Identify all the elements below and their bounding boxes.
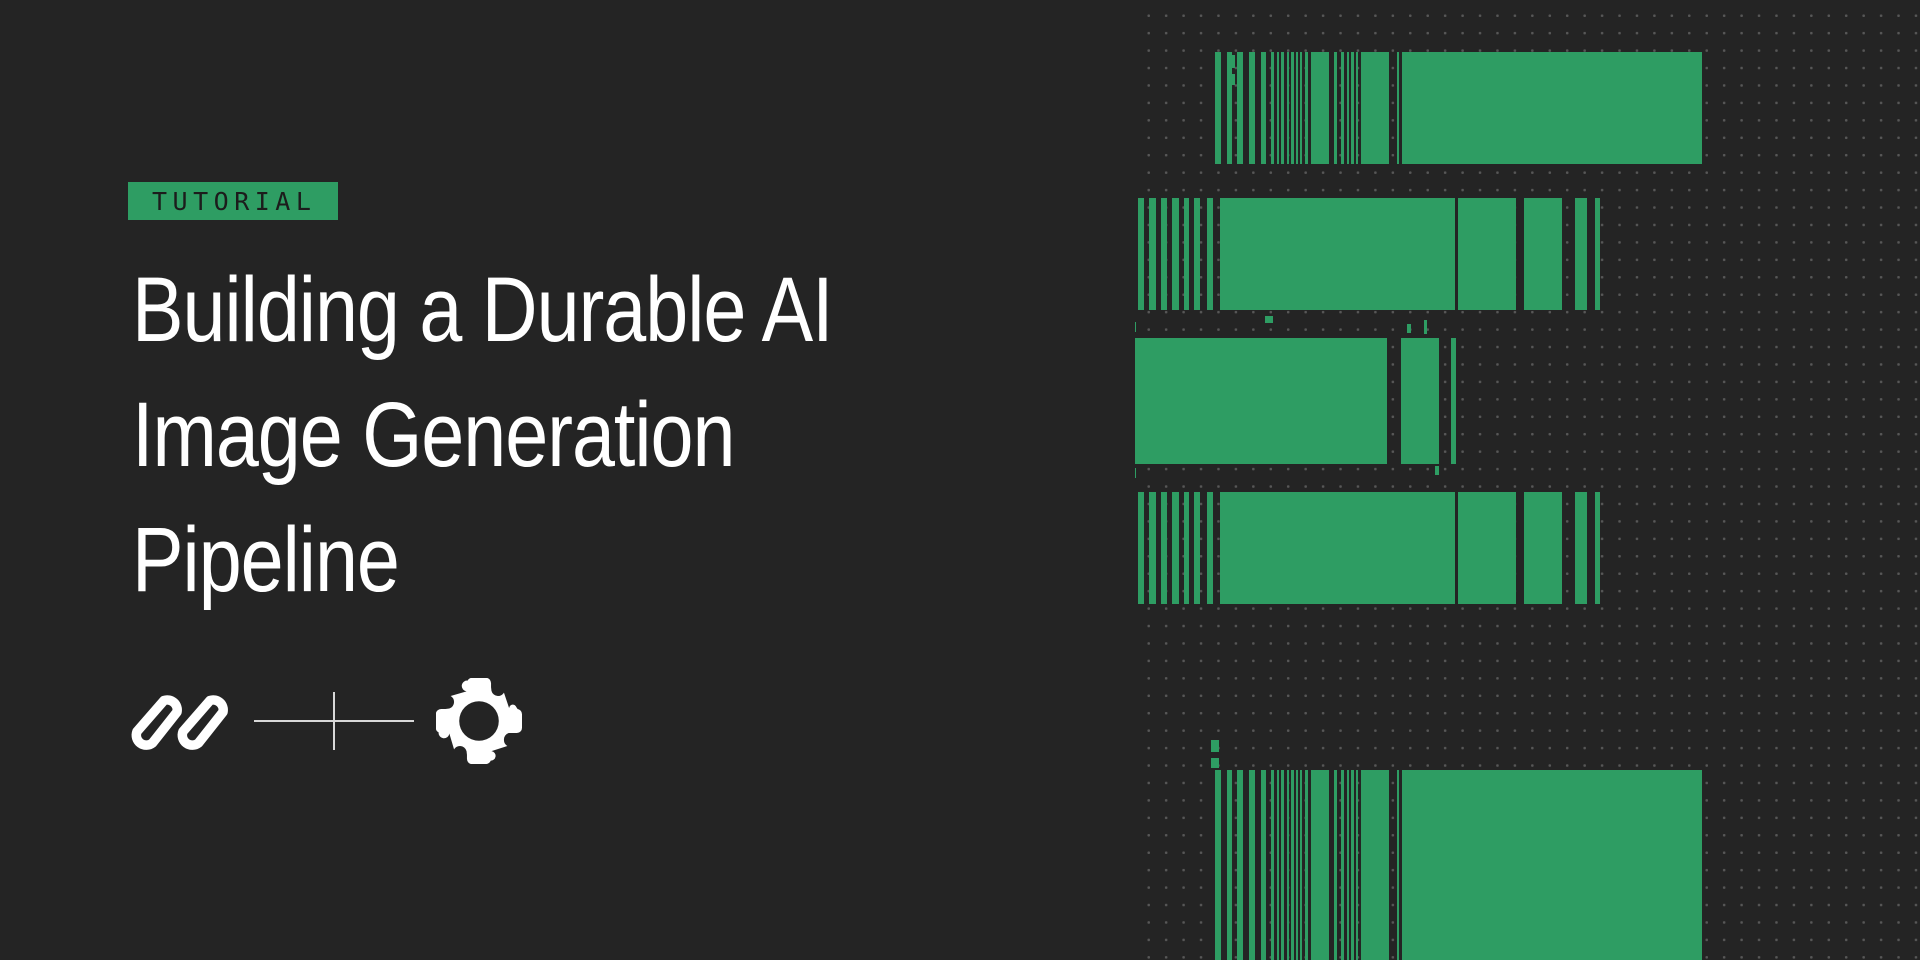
gantt-bar [1184, 198, 1189, 310]
gantt-bar [1575, 492, 1587, 604]
gantt-bar [1172, 198, 1179, 310]
title-line-3: Pipeline [132, 498, 938, 623]
gantt-bar [1215, 770, 1221, 960]
gantt-speckle [1135, 322, 1136, 332]
gantt-bar [1207, 492, 1213, 604]
gantt-bar [1287, 770, 1289, 960]
gantt-bar [1220, 492, 1455, 604]
gantt-bar [1172, 492, 1179, 604]
gantt-bar [1595, 198, 1600, 310]
content-panel: TUTORIAL Building a Durable AI Image Gen… [0, 0, 1135, 960]
gantt-bar-row [1135, 338, 1920, 464]
gantt-bar [1296, 52, 1298, 164]
gantt-bar [1237, 52, 1243, 164]
plus-divider-icon [254, 686, 414, 756]
gantt-speckle [1435, 466, 1439, 475]
inngest-logo [128, 687, 232, 755]
gantt-bar [1161, 198, 1167, 310]
gantt-bar-row [1135, 492, 1920, 604]
gantt-bar [1595, 492, 1600, 604]
gantt-speckle [1228, 74, 1235, 85]
gantt-bar [1138, 492, 1144, 604]
gantt-speckle [1424, 320, 1427, 334]
gantt-bar [1287, 52, 1289, 164]
gantt-bar [1227, 52, 1232, 164]
gantt-bar [1397, 52, 1399, 164]
gantt-bar [1138, 198, 1144, 310]
gantt-bar [1334, 770, 1337, 960]
gantt-speckle [1407, 324, 1411, 333]
gantt-bar [1347, 52, 1349, 164]
gantt-bar [1311, 52, 1329, 164]
gantt-speckle [1211, 758, 1219, 768]
hero-banner: TUTORIAL Building a Durable AI Image Gen… [0, 0, 1920, 960]
page-title: Building a Durable AI Image Generation P… [132, 248, 938, 623]
gantt-bar [1149, 198, 1156, 310]
gantt-bar [1356, 770, 1358, 960]
gantt-bar [1249, 770, 1255, 960]
gantt-bar [1361, 52, 1389, 164]
gantt-bar [1397, 770, 1399, 960]
gantt-speckle [1211, 740, 1219, 752]
gantt-speckle [1135, 468, 1136, 478]
gantt-bar [1291, 52, 1294, 164]
gantt-bar [1271, 52, 1274, 164]
gantt-speckle [1265, 316, 1273, 323]
badge-label: TUTORIAL [152, 189, 316, 214]
gantt-bar [1194, 492, 1200, 604]
title-line-1: Building a Durable AI [132, 248, 938, 373]
gantt-bar [1227, 770, 1232, 960]
gantt-bar [1402, 52, 1702, 164]
gantt-bar [1215, 52, 1221, 164]
gear-logo [436, 678, 522, 764]
gantt-bar [1347, 770, 1349, 960]
gantt-bar [1296, 770, 1298, 960]
gantt-bar [1149, 492, 1156, 604]
gantt-bar [1402, 770, 1702, 960]
title-line-2: Image Generation [132, 373, 938, 498]
gantt-bar [1451, 338, 1456, 464]
gantt-bar [1281, 52, 1284, 164]
gantt-bar [1194, 198, 1200, 310]
gantt-bar [1135, 338, 1387, 464]
gantt-bar [1261, 52, 1266, 164]
gantt-bar [1261, 770, 1266, 960]
gantt-bar [1311, 770, 1329, 960]
gantt-bar [1271, 770, 1274, 960]
gantt-bars-layer [1135, 0, 1920, 960]
gantt-bar [1207, 198, 1213, 310]
gantt-bar [1237, 770, 1243, 960]
gantt-bar [1341, 770, 1344, 960]
gantt-bar [1351, 770, 1354, 960]
gantt-bar [1291, 770, 1294, 960]
gantt-bar [1356, 52, 1358, 164]
gantt-bar [1401, 338, 1439, 464]
gantt-bar [1575, 198, 1587, 310]
gantt-bar-row [1135, 770, 1920, 960]
gantt-bar [1300, 52, 1302, 164]
gantt-bar [1277, 52, 1279, 164]
gantt-bar [1524, 198, 1562, 310]
gantt-bar [1458, 492, 1516, 604]
tutorial-badge: TUTORIAL [128, 182, 338, 220]
gantt-bar [1220, 198, 1455, 310]
gantt-bar [1249, 52, 1255, 164]
gantt-bar-row [1135, 52, 1920, 164]
gantt-bar [1334, 52, 1337, 164]
gantt-bar [1305, 770, 1308, 960]
logo-lockup [128, 678, 522, 764]
gantt-bar [1305, 52, 1308, 164]
gantt-bar [1361, 770, 1389, 960]
gantt-bar [1184, 492, 1189, 604]
gantt-bar [1161, 492, 1167, 604]
gantt-speckle [1228, 55, 1235, 68]
gantt-bar [1351, 52, 1354, 164]
gantt-bar-row [1135, 198, 1920, 310]
decorative-graphic [1135, 0, 1920, 960]
gantt-bar [1458, 198, 1516, 310]
gantt-bar [1277, 770, 1279, 960]
gantt-bar [1300, 770, 1302, 960]
gantt-bar [1341, 52, 1344, 164]
gantt-bar [1524, 492, 1562, 604]
gantt-bar [1281, 770, 1284, 960]
